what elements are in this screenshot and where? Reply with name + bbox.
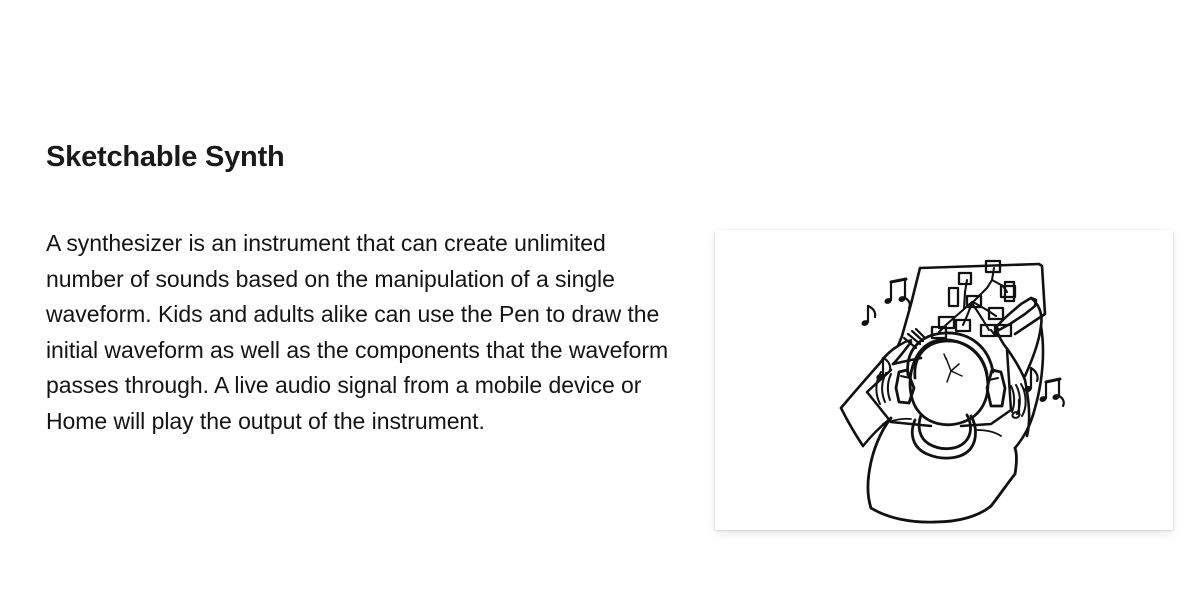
page-root: Sketchable Synth A synthesizer is an ins… xyxy=(0,0,1200,600)
content-column: Sketchable Synth A synthesizer is an ins… xyxy=(46,140,686,439)
sketch-illustration xyxy=(715,230,1173,530)
stylus-pen xyxy=(991,298,1036,334)
shoulders-torso xyxy=(868,415,1017,522)
node-patch-graph xyxy=(932,261,1015,338)
illustration-card xyxy=(715,230,1173,530)
article-body-text: A synthesizer is an instrument that can … xyxy=(46,174,678,439)
page-title: Sketchable Synth xyxy=(46,140,686,174)
